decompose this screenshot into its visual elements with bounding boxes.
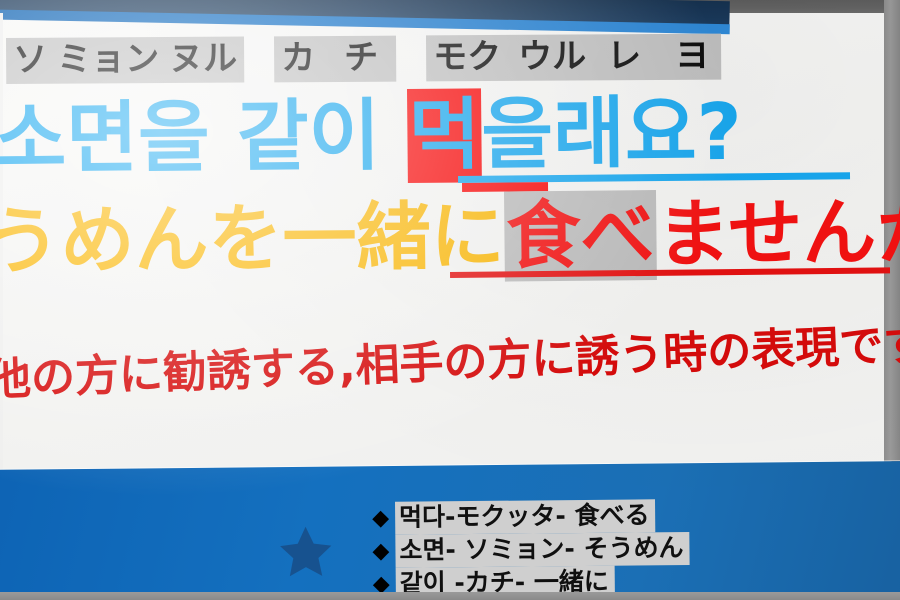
- reading-group-2: カ チ: [274, 36, 396, 83]
- korean-highlight-word: 먹: [407, 88, 482, 183]
- explanation-text: 他の方に勧誘する,相手の方に誘う時の表現です。: [0, 314, 900, 410]
- japanese-text-yellow: うめんを一緒に: [0, 194, 505, 285]
- reading-cell: ヨ: [659, 35, 719, 78]
- diamond-bullet-icon: ◆: [372, 503, 395, 533]
- slide-stage: ソ ミョン ヌル カ チ モク ウル レ ヨ 소면을 같이 먹을래요? うめんを…: [0, 0, 900, 600]
- korean-text-after: 을래요?: [481, 88, 742, 180]
- reading-row: ソ ミョン ヌル カ チ モク ウル レ ヨ: [6, 34, 721, 84]
- korean-text-before: 소면을 같이: [0, 91, 408, 185]
- reading-cell: レ: [591, 35, 659, 78]
- reading-cell: ミョン: [52, 38, 164, 82]
- reading-cell: ソ: [8, 39, 52, 82]
- japanese-text-red: ませんか?: [656, 188, 900, 278]
- reading-group-1: ソ ミョン ヌル: [6, 37, 244, 84]
- vocabulary-entry-text: 먹다-モクッタ- 食べる: [395, 499, 656, 534]
- list-item: ◆ 먹다-モクッタ- 食べる: [372, 499, 689, 535]
- list-item: ◆ 소면- ソミョン- そうめん: [372, 532, 689, 568]
- bottom-gray-bar: [0, 592, 900, 600]
- reading-cell: ウル: [506, 35, 591, 79]
- japanese-highlight-word: 食べ: [504, 190, 657, 282]
- reading-cell: カ: [276, 37, 320, 80]
- diamond-bullet-icon: ◆: [372, 536, 395, 566]
- reading-cell: チ: [320, 37, 394, 80]
- reading-gap: [244, 81, 274, 82]
- korean-sentence: 소면을 같이 먹을래요?: [0, 85, 742, 188]
- vocabulary-entry-text: 소면- ソミョン- そうめん: [395, 532, 689, 568]
- reading-gap: [396, 80, 426, 81]
- reading-cell: ヌル: [164, 38, 242, 81]
- vocabulary-list: ◆ 먹다-モクッタ- 食べる ◆ 소면- ソミョン- そうめん ◆ 같이 -カチ…: [372, 499, 690, 600]
- star-icon: [276, 523, 337, 582]
- reading-cell: モク: [428, 36, 506, 79]
- reading-group-3: モク ウル レ ヨ: [426, 34, 721, 82]
